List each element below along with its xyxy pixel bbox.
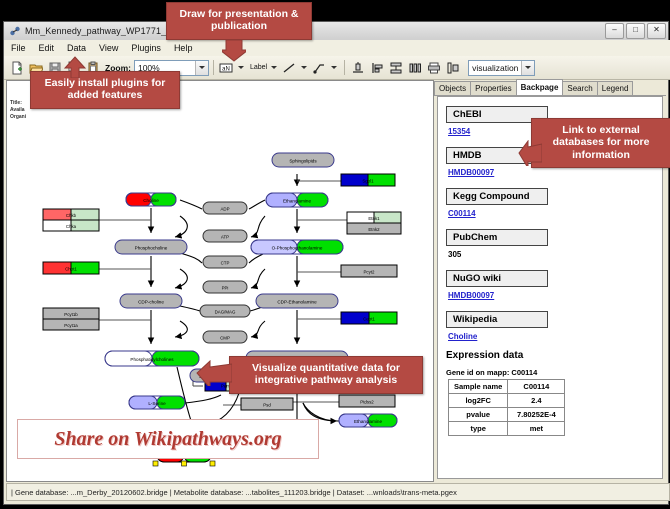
node-atp[interactable]: ATP (203, 230, 247, 242)
visualization-value: visualization (472, 63, 518, 73)
gene-chkb[interactable]: Chkb (43, 209, 99, 220)
svg-text:Sgpl1: Sgpl1 (362, 179, 374, 184)
print-icon[interactable] (425, 59, 442, 76)
gene-pcyt1a[interactable]: Pcyt1a (43, 319, 99, 330)
menu-view[interactable]: View (97, 42, 120, 54)
svg-text:ATP: ATP (221, 235, 229, 240)
window-titlebar: Mm_Kennedy_pathway_WP1771_45176.gpml - P… (4, 22, 668, 41)
svg-text:Psd: Psd (263, 403, 271, 408)
node-ethanolamine-right[interactable]: Ethanolamine (339, 414, 397, 427)
db-wikipedia-link[interactable]: Choline (448, 332, 662, 341)
node-ctp[interactable]: CTP (203, 256, 247, 268)
gene-ptdss2[interactable]: Ptdss2 (339, 395, 395, 407)
table-row: log2FC 2.4 (449, 394, 565, 408)
expr-key-0: Sample name (449, 380, 508, 394)
menubar: File Edit Data View Plugins Help (4, 40, 670, 57)
node-l-serine-left[interactable]: L-Serine (129, 396, 185, 409)
callout-external-databases: Link to external databases for more info… (531, 118, 670, 168)
svg-text:Pcyt2: Pcyt2 (364, 270, 376, 275)
db-kegg-compound-header: Kegg Compound (446, 188, 548, 205)
stack-vertical-icon[interactable] (387, 59, 404, 76)
pathvisio-icon (9, 25, 21, 37)
db-nugo-wiki-link[interactable]: HMDB00097 (448, 291, 662, 300)
expr-val-3: met (508, 422, 565, 436)
status-bar-text: | Gene database: ...m_Derby_20120602.bri… (11, 488, 457, 497)
svg-text:Choline: Choline (143, 198, 159, 203)
svg-text:L-Serine: L-Serine (148, 401, 166, 406)
callout-draw-for-publication: Draw for presentation & publication (166, 2, 312, 40)
tab-legend[interactable]: Legend (597, 81, 634, 95)
gene-psd[interactable]: Psd (241, 398, 293, 410)
menu-file[interactable]: File (9, 42, 28, 54)
node-sphingolipids[interactable]: Sphingolipids (272, 153, 334, 167)
label-tool-label[interactable]: Label (248, 64, 269, 71)
tab-search[interactable]: Search (562, 81, 597, 95)
svg-text:Chkb: Chkb (66, 213, 77, 218)
gene-pcyt1b[interactable]: Pcyt1b (43, 308, 99, 319)
tab-backpage[interactable]: Backpage (516, 79, 564, 95)
tab-objects[interactable]: Objects (434, 81, 471, 95)
share-text: Share on Wikipathways.org (54, 428, 281, 451)
callout-install-plugins: Easily install plugins for added feature… (30, 71, 180, 109)
table-row: Sample name C00114 (449, 380, 565, 394)
node-cdp-choline[interactable]: CDP-choline (120, 294, 182, 308)
screenshot-root: Mm_Kennedy_pathway_WP1771_45176.gpml - P… (0, 0, 670, 509)
svg-text:Cept1: Cept1 (363, 317, 375, 322)
new-file-icon[interactable] (8, 59, 25, 76)
node-dagmag[interactable]: DAG/MAG (200, 305, 250, 317)
tab-properties[interactable]: Properties (470, 81, 516, 95)
svg-text:Ethanolamine: Ethanolamine (354, 419, 383, 424)
svg-text:PPi: PPi (222, 286, 229, 291)
cofactor-nodes: ADP ATP CTP PPi DAG/MAG CMP (200, 202, 250, 343)
node-phosphatidylcholine[interactable]: Phosphatidylcholines (105, 351, 199, 366)
callout-visualize-arrow-icon (196, 360, 232, 386)
db-pubchem-value: 305 (448, 250, 662, 259)
expr-val-0: C00114 (508, 380, 565, 394)
svg-text:O-Phosphoethanolamine: O-Phosphoethanolamine (272, 246, 323, 251)
gene-etnk2[interactable]: Etnk2 (347, 223, 401, 234)
svg-text:Etnk2: Etnk2 (368, 227, 380, 232)
group-icon[interactable] (444, 59, 461, 76)
node-ethanolamine[interactable]: Ethanolamine (266, 193, 328, 207)
maximize-button[interactable]: □ (626, 23, 645, 39)
menu-help[interactable]: Help (172, 42, 195, 54)
expression-data-heading: Expression data (446, 350, 662, 361)
svg-text:Pcyt1b: Pcyt1b (64, 312, 78, 317)
svg-text:Phosphatidylcholines: Phosphatidylcholines (130, 357, 174, 362)
line-icon[interactable] (280, 59, 297, 76)
svg-text:Etnk1: Etnk1 (368, 216, 380, 221)
svg-text:Pcyt1a: Pcyt1a (64, 323, 78, 328)
node-choline[interactable]: Choline (126, 193, 176, 206)
callout-visualize-data: Visualize quantitative data for integrat… (229, 356, 423, 394)
gene-etnk1[interactable]: Etnk1 (347, 212, 401, 223)
label-dropdown-icon[interactable] (269, 59, 278, 76)
status-bar: | Gene database: ...m_Derby_20120602.bri… (6, 483, 670, 501)
interaction-icon[interactable] (310, 59, 327, 76)
align-left-icon[interactable] (368, 59, 385, 76)
node-cmp[interactable]: CMP (203, 331, 247, 343)
node-ppi[interactable]: PPi (203, 281, 247, 293)
line-dropdown-icon[interactable] (299, 59, 308, 76)
table-row: type met (449, 422, 565, 436)
expr-key-1: log2FC (449, 394, 508, 408)
menu-plugins[interactable]: Plugins (129, 42, 163, 54)
svg-text:Sphingolipids: Sphingolipids (289, 159, 317, 164)
svg-text:Ethanolamine: Ethanolamine (283, 199, 312, 204)
svg-text:ADP: ADP (220, 207, 229, 212)
svg-text:Chpt1: Chpt1 (65, 267, 77, 272)
toolbar-separator-2 (344, 60, 345, 75)
node-phosphocholine[interactable]: Phosphocholine (115, 240, 187, 254)
menu-edit[interactable]: Edit (37, 42, 57, 54)
window-controls: – □ ✕ (605, 23, 666, 39)
callout-plugins-arrow-icon (62, 56, 88, 78)
db-kegg-compound-link[interactable]: C00114 (448, 209, 662, 218)
db-wikipedia-header: Wikipedia (446, 311, 548, 328)
db-hmdb-link[interactable]: HMDB00097 (448, 168, 662, 177)
svg-text:CMP: CMP (220, 336, 230, 341)
gene-chka[interactable]: Chka (43, 220, 99, 231)
interaction-dropdown-icon[interactable] (329, 59, 338, 76)
callout-share: Share on Wikipathways.org (17, 419, 319, 459)
svg-text:aN: aN (223, 66, 231, 72)
db-pubchem-header: PubChem (446, 229, 548, 246)
expr-key-3: type (449, 422, 508, 436)
svg-text:CDP-choline: CDP-choline (138, 300, 164, 305)
expression-gene-id: Gene id on mapp: C00114 (446, 368, 662, 377)
node-o-phosphoethanolamine[interactable]: O-Phosphoethanolamine (251, 240, 343, 254)
db-nugo-wiki-header: NuGO wiki (446, 270, 548, 287)
chevron-down-icon-2[interactable] (521, 61, 534, 75)
node-cdp-ethanolamine[interactable]: CDP-Ethanolamine (256, 294, 338, 308)
distribute-icon[interactable] (406, 59, 423, 76)
visualization-combobox[interactable]: visualization (468, 60, 535, 76)
chevron-down-icon[interactable] (195, 61, 208, 75)
gene-sgpl1[interactable]: Sgpl1 (341, 174, 395, 186)
expr-val-1: 2.4 (508, 394, 565, 408)
gene-pcyt2[interactable]: Pcyt2 (341, 265, 397, 277)
svg-text:Phosphocholine: Phosphocholine (135, 246, 168, 251)
node-adp[interactable]: ADP (203, 202, 247, 214)
callout-databases-arrow-icon (518, 140, 542, 166)
callout-draw-arrow-icon (222, 40, 246, 62)
svg-text:Chka: Chka (66, 224, 77, 229)
toolbar-separator (213, 60, 214, 75)
expr-val-2: 7.80252E-4 (508, 408, 565, 422)
svg-text:Ptdss2: Ptdss2 (360, 400, 374, 405)
svg-text:DAG/MAG: DAG/MAG (215, 310, 236, 315)
gene-chpt1[interactable]: Chpt1 (43, 262, 99, 274)
svg-text:CDP-Ethanolamine: CDP-Ethanolamine (277, 300, 317, 305)
expr-key-2: pvalue (449, 408, 508, 422)
expression-table: Sample name C00114 log2FC 2.4 pvalue 7.8… (448, 379, 565, 436)
align-top-icon[interactable] (349, 59, 366, 76)
close-button[interactable]: ✕ (647, 23, 666, 39)
svg-text:CTP: CTP (221, 261, 230, 266)
minimize-button[interactable]: – (605, 23, 624, 39)
menu-data[interactable]: Data (65, 42, 88, 54)
side-panel-tabs: Objects Properties Backpage Search Legen… (434, 80, 666, 96)
gene-cept1[interactable]: Cept1 (341, 312, 397, 324)
table-row: pvalue 7.80252E-4 (449, 408, 565, 422)
